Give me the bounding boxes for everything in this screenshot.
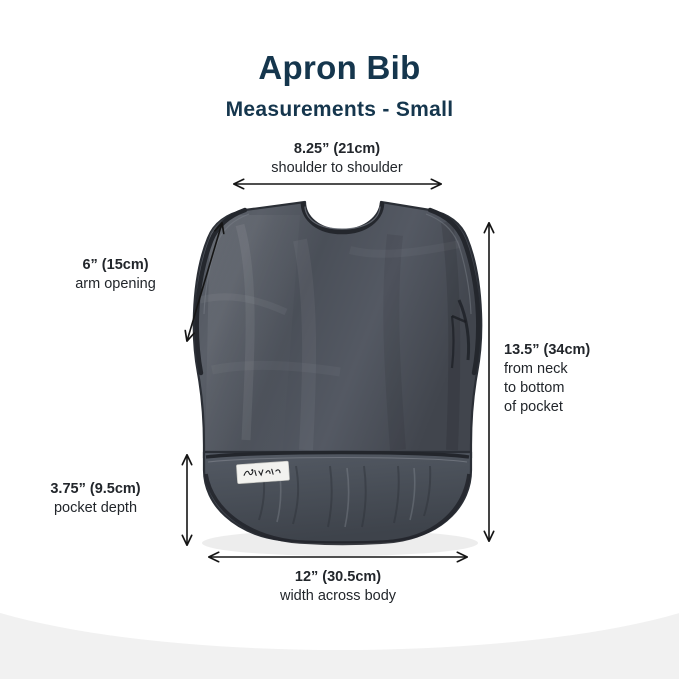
label-shoulder-value: 8.25” (21cm) xyxy=(217,140,457,159)
label-pocket-depth-description: pocket depth xyxy=(18,499,173,518)
label-width-across-body: 12” (30.5cm) width across body xyxy=(218,568,458,606)
label-neck-to-pocket-line1: from neck xyxy=(504,360,664,379)
label-arm-opening-value: 6” (15cm) xyxy=(38,256,193,275)
label-neck-to-pocket-line2: to bottom xyxy=(504,379,664,398)
label-arm-opening-description: arm opening xyxy=(38,275,193,294)
label-shoulder-to-shoulder: 8.25” (21cm) shoulder to shoulder xyxy=(217,140,457,178)
label-width-description: width across body xyxy=(218,587,458,606)
label-neck-to-pocket-value: 13.5” (34cm) xyxy=(504,341,664,360)
label-pocket-depth-value: 3.75” (9.5cm) xyxy=(18,480,173,499)
label-shoulder-description: shoulder to shoulder xyxy=(217,159,457,178)
brand-tag xyxy=(236,461,289,484)
label-pocket-depth: 3.75” (9.5cm) pocket depth xyxy=(18,480,173,518)
label-neck-to-pocket-line3: of pocket xyxy=(504,398,664,417)
measurement-diagram: Apron Bib Measurements - Small xyxy=(0,0,679,679)
page-title: Apron Bib xyxy=(0,49,679,87)
bib-pocket xyxy=(204,452,471,544)
bib-body xyxy=(194,202,482,460)
label-arm-opening: 6” (15cm) arm opening xyxy=(38,256,193,294)
label-width-value: 12” (30.5cm) xyxy=(218,568,458,587)
label-neck-to-pocket: 13.5” (34cm) from neck to bottom of pock… xyxy=(504,341,664,417)
page-subtitle: Measurements - Small xyxy=(0,97,679,122)
